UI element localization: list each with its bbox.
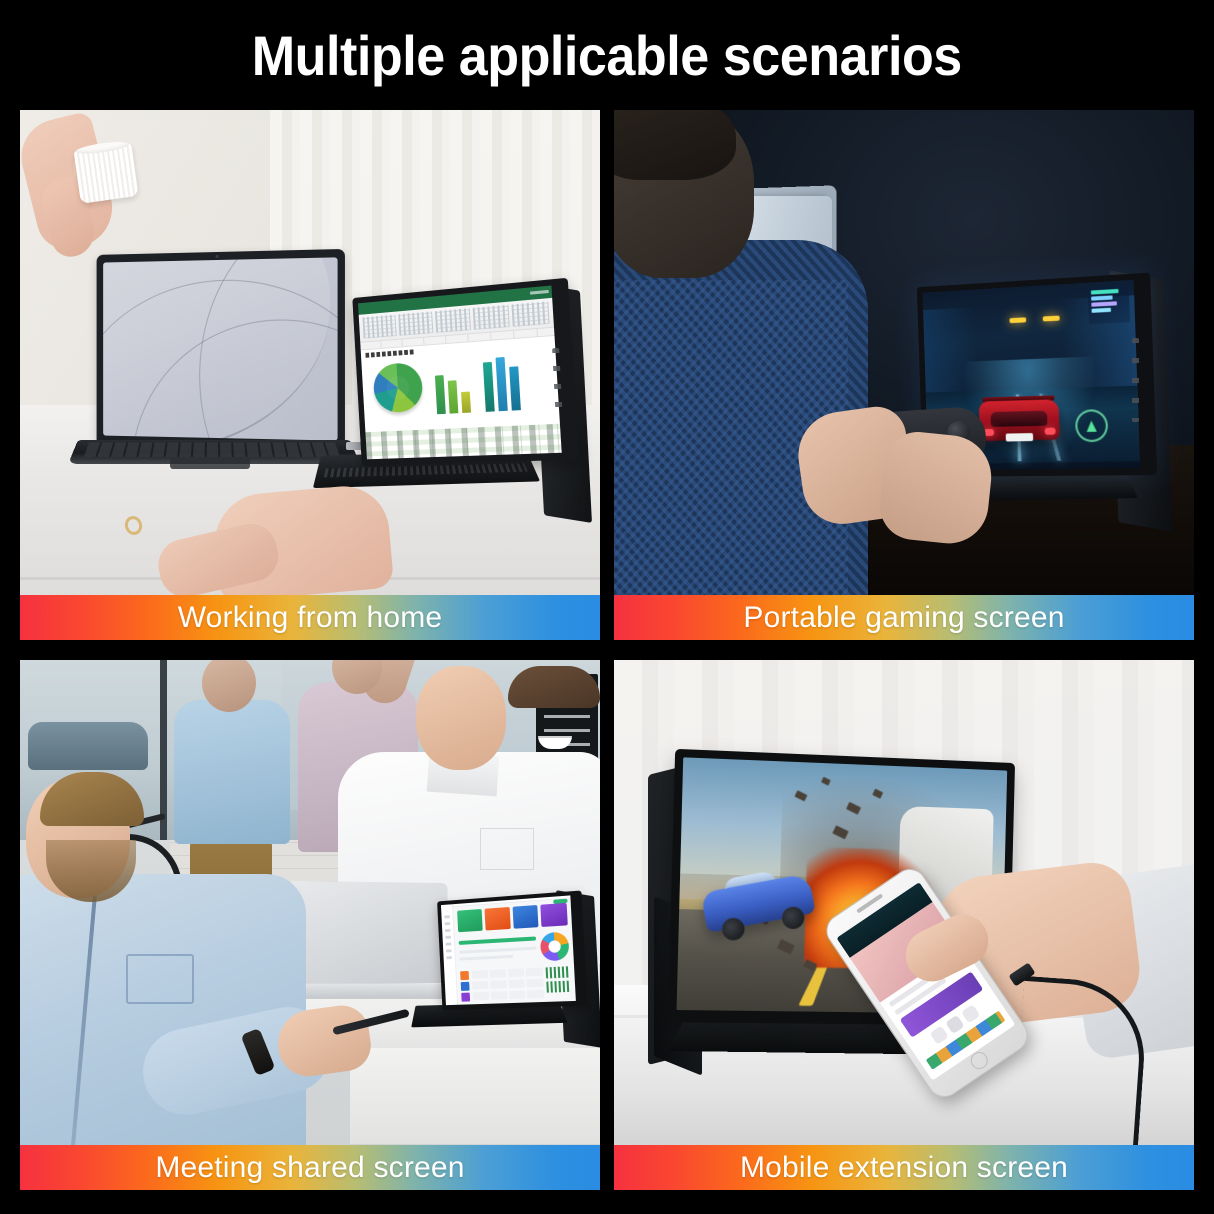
photo-working-from-home xyxy=(20,110,600,595)
gamer-hair xyxy=(614,110,736,180)
scenario-panel-portable-gaming-screen[interactable]: Portable gaming screen xyxy=(614,110,1194,640)
hand-on-desk xyxy=(211,483,394,595)
laptop-webcam xyxy=(216,255,219,258)
excel-chart-area xyxy=(361,336,560,432)
man-in-denim-shirt xyxy=(20,778,336,1145)
caption-text: Mobile extension screen xyxy=(740,1151,1068,1185)
caption-text: Meeting shared screen xyxy=(155,1151,464,1185)
color-swatches xyxy=(460,971,470,1002)
overhead-lamp xyxy=(1009,317,1026,323)
portable-monitor-1 xyxy=(350,288,600,538)
pie-chart xyxy=(372,362,423,414)
bar-chart-group-2 xyxy=(482,351,521,412)
portable-monitor-3 xyxy=(436,896,600,1056)
laptop-lid xyxy=(97,249,345,451)
caption-bar-meeting-shared-screen: Meeting shared screen xyxy=(20,1145,600,1190)
photo-portable-gaming xyxy=(614,110,1194,595)
laptop-trackpad xyxy=(170,457,250,469)
caption-bar-mobile-extension-screen: Mobile extension screen xyxy=(614,1145,1194,1190)
laptop xyxy=(78,252,350,477)
caption-bar-portable-gaming-screen: Portable gaming screen xyxy=(614,595,1194,640)
scenario-panel-meeting-shared-screen[interactable]: Meeting shared screen xyxy=(20,660,600,1190)
laptop-screen xyxy=(103,257,337,440)
dashboard-progress-widget xyxy=(458,931,537,967)
scenario-grid: Working from home xyxy=(20,110,1194,1190)
scenario-panel-working-from-home[interactable]: Working from home xyxy=(20,110,600,640)
overhead-lamp xyxy=(1043,316,1060,322)
monitor-screen-dashboard xyxy=(441,895,576,1005)
caption-text: Working from home xyxy=(178,601,443,635)
monitor-side-ports xyxy=(1132,338,1139,422)
dashboard-bottom-widgets xyxy=(456,966,575,1005)
page-title: Multiple applicable scenarios xyxy=(0,0,1214,110)
car-taillight xyxy=(1045,428,1056,435)
race-car xyxy=(979,391,1061,445)
car-plate xyxy=(1006,433,1034,441)
page-title-text: Multiple applicable scenarios xyxy=(252,23,962,88)
dashboard-cell-grid xyxy=(471,968,544,1002)
car-window xyxy=(991,411,1048,427)
meeting-table-front xyxy=(350,1048,600,1144)
gamer-right-hand xyxy=(877,429,996,548)
dashboard-sparklines xyxy=(546,966,572,999)
photo-mobile-extension xyxy=(614,660,1194,1145)
gamer-head xyxy=(614,110,754,278)
car-body xyxy=(979,399,1060,441)
coffee-mug xyxy=(74,142,139,204)
scenario-panel-mobile-extension-screen[interactable]: Mobile extension screen xyxy=(614,660,1194,1190)
photo-meeting xyxy=(20,660,600,1145)
monitor-bezel xyxy=(352,278,579,466)
game-hud-telemetry xyxy=(1088,285,1130,324)
bar-chart-group-1 xyxy=(434,363,471,415)
caption-text: Portable gaming screen xyxy=(743,601,1064,635)
excel-sheet-title xyxy=(365,349,413,357)
monitor-screen-excel xyxy=(358,286,562,460)
caption-bar-working-from-home: Working from home xyxy=(20,595,600,640)
monitor-bezel xyxy=(437,890,587,1010)
dashboard-donut-chart xyxy=(540,931,570,961)
car-outside-window xyxy=(28,722,148,770)
promo-page: Multiple applicable scenarios xyxy=(0,0,1214,1214)
